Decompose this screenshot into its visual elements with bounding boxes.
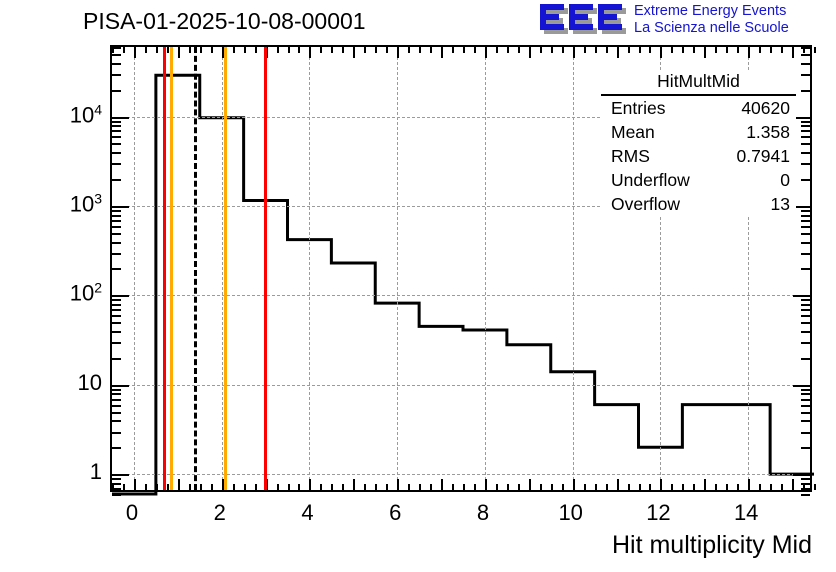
axis-tick xyxy=(364,484,366,490)
axis-tick xyxy=(573,47,575,58)
axis-tick xyxy=(386,47,388,53)
stats-box: HitMultMid Entries40620Mean1.358RMS0.794… xyxy=(601,70,796,216)
axis-tick xyxy=(628,47,630,53)
axis-tick xyxy=(649,484,651,490)
axis-tick xyxy=(397,479,399,490)
axis-tick xyxy=(178,479,180,490)
axis-tick xyxy=(606,484,608,490)
grid-line-vertical xyxy=(573,47,574,490)
grid-line-vertical xyxy=(397,47,398,490)
axis-tick xyxy=(156,47,158,53)
x-axis-title: Hit multiplicity Mid xyxy=(612,531,812,560)
marker-black-dashed-mean xyxy=(194,47,197,490)
axis-tick xyxy=(112,494,121,496)
axis-tick xyxy=(342,47,344,53)
axis-tick xyxy=(682,484,684,490)
axis-tick xyxy=(112,483,121,485)
axis-tick xyxy=(737,484,739,490)
axis-tick xyxy=(801,315,810,317)
axis-tick xyxy=(112,389,121,391)
axis-tick xyxy=(649,47,651,53)
axis-tick xyxy=(244,484,246,490)
axis-tick xyxy=(211,47,213,53)
y-tick-label: 103 xyxy=(70,190,102,217)
axis-tick xyxy=(112,63,121,65)
eee-logo-line1: Extreme Energy Events xyxy=(634,3,789,20)
axis-tick xyxy=(617,479,619,490)
axis-tick xyxy=(112,54,121,56)
axis-tick xyxy=(529,47,531,58)
axis-tick xyxy=(112,358,121,360)
marker-red-line-high xyxy=(264,47,267,490)
axis-tick xyxy=(814,484,816,490)
axis-tick xyxy=(726,484,728,490)
axis-tick xyxy=(801,412,810,414)
axis-tick xyxy=(617,47,619,58)
axis-tick xyxy=(298,47,300,53)
axis-tick xyxy=(123,484,125,490)
axis-tick xyxy=(801,488,810,490)
axis-tick xyxy=(112,136,121,138)
axis-tick xyxy=(112,143,121,145)
axis-tick xyxy=(801,393,810,395)
axis-tick xyxy=(801,358,810,360)
axis-tick xyxy=(452,47,454,53)
axis-tick xyxy=(496,47,498,53)
axis-tick xyxy=(540,484,542,490)
axis-tick xyxy=(573,479,575,490)
x-tick-label: 12 xyxy=(646,500,670,526)
axis-tick xyxy=(540,47,542,53)
axis-tick xyxy=(770,47,772,53)
axis-tick xyxy=(801,210,810,212)
stats-row: Mean1.358 xyxy=(601,120,796,144)
axis-tick xyxy=(801,121,810,123)
eee-logo-mark xyxy=(540,4,630,38)
stats-row: RMS0.7941 xyxy=(601,144,796,168)
axis-tick xyxy=(375,484,377,490)
axis-tick xyxy=(112,253,121,255)
axis-tick xyxy=(474,484,476,490)
axis-tick xyxy=(112,478,121,480)
axis-tick xyxy=(309,47,311,58)
axis-tick xyxy=(801,389,810,391)
y-tick-label: 104 xyxy=(70,101,102,128)
stats-row: Overflow13 xyxy=(601,192,796,216)
axis-tick xyxy=(801,74,810,76)
axis-tick xyxy=(112,295,129,297)
axis-tick xyxy=(441,479,443,490)
axis-tick xyxy=(463,47,465,53)
axis-tick xyxy=(112,309,121,311)
axis-tick xyxy=(518,484,520,490)
axis-tick xyxy=(801,220,810,222)
axis-tick xyxy=(801,233,810,235)
axis-tick xyxy=(485,479,487,490)
axis-tick xyxy=(419,47,421,53)
axis-tick xyxy=(112,331,121,333)
grid-line-horizontal xyxy=(112,295,810,296)
axis-tick xyxy=(801,47,810,49)
axis-tick xyxy=(693,484,695,490)
root-canvas: PISA-01-2025-10-08-00001 xyxy=(0,0,836,572)
y-tick-label: 102 xyxy=(70,280,102,307)
axis-tick xyxy=(244,47,246,53)
axis-tick xyxy=(682,47,684,53)
axis-tick xyxy=(112,432,121,434)
axis-tick xyxy=(759,47,761,53)
axis-tick xyxy=(801,478,810,480)
axis-tick xyxy=(628,484,630,490)
y-tick-label: 10 xyxy=(78,370,102,396)
axis-tick xyxy=(288,47,290,53)
axis-tick xyxy=(801,136,810,138)
stats-row-value: 40620 xyxy=(741,98,790,119)
axis-tick xyxy=(112,47,121,49)
axis-tick xyxy=(770,484,772,490)
axis-tick xyxy=(123,47,125,53)
y-tick-label: 1 xyxy=(90,459,102,485)
axis-tick xyxy=(801,494,810,496)
axis-tick xyxy=(801,405,810,407)
axis-tick xyxy=(639,484,641,490)
axis-tick xyxy=(660,47,662,58)
axis-tick xyxy=(671,484,673,490)
axis-tick xyxy=(801,299,810,301)
axis-tick xyxy=(408,484,410,490)
axis-tick xyxy=(737,47,739,53)
axis-tick xyxy=(551,484,553,490)
axis-tick xyxy=(452,484,454,490)
axis-tick xyxy=(112,315,121,317)
axis-tick xyxy=(112,152,121,154)
axis-tick xyxy=(200,484,202,490)
axis-tick xyxy=(801,152,810,154)
grid-line-vertical xyxy=(485,47,486,490)
axis-tick xyxy=(801,242,810,244)
axis-tick xyxy=(145,47,147,53)
axis-tick xyxy=(331,484,333,490)
axis-tick xyxy=(801,342,810,344)
axis-tick xyxy=(496,484,498,490)
stats-row-value: 1.358 xyxy=(746,122,790,143)
axis-tick xyxy=(112,342,121,344)
axis-tick xyxy=(801,483,810,485)
axis-tick xyxy=(112,304,121,306)
x-tick-label: 10 xyxy=(558,500,582,526)
stats-row-key: Entries xyxy=(611,98,665,119)
axis-tick xyxy=(463,484,465,490)
axis-tick xyxy=(485,47,487,58)
axis-tick xyxy=(211,484,213,490)
axis-tick xyxy=(801,215,810,217)
axis-tick xyxy=(134,479,136,490)
grid-line-vertical xyxy=(309,47,310,490)
stats-row: Underflow0 xyxy=(601,168,796,192)
axis-tick xyxy=(112,233,121,235)
stats-rows: Entries40620Mean1.358RMS0.7941Underflow0… xyxy=(601,96,796,216)
axis-tick xyxy=(112,385,129,387)
axis-tick xyxy=(112,420,121,422)
axis-tick xyxy=(353,479,355,490)
stats-box-title: HitMultMid xyxy=(601,70,796,96)
marker-orange-line-high xyxy=(224,47,227,490)
axis-tick xyxy=(320,484,322,490)
axis-tick xyxy=(660,479,662,490)
axis-tick xyxy=(189,47,191,53)
axis-tick xyxy=(801,130,810,132)
axis-tick xyxy=(112,226,121,228)
axis-tick xyxy=(112,163,121,165)
axis-tick xyxy=(801,253,810,255)
axis-tick xyxy=(233,47,235,53)
axis-tick xyxy=(801,304,810,306)
axis-tick xyxy=(430,484,432,490)
axis-tick xyxy=(801,331,810,333)
axis-tick xyxy=(255,47,257,53)
grid-line-horizontal xyxy=(112,474,810,475)
axis-tick xyxy=(529,479,531,490)
axis-tick xyxy=(112,125,121,127)
stats-row-value: 0 xyxy=(780,170,790,191)
axis-tick xyxy=(726,47,728,53)
axis-tick xyxy=(112,220,121,222)
axis-tick xyxy=(112,210,121,212)
axis-tick xyxy=(189,484,191,490)
axis-tick xyxy=(606,47,608,53)
axis-tick xyxy=(112,405,121,407)
axis-tick xyxy=(704,47,706,58)
stats-row-key: RMS xyxy=(611,146,650,167)
axis-tick xyxy=(233,484,235,490)
axis-tick xyxy=(419,484,421,490)
axis-tick xyxy=(801,226,810,228)
axis-tick xyxy=(801,163,810,165)
axis-tick xyxy=(112,117,129,119)
stats-row-key: Underflow xyxy=(611,170,690,191)
axis-tick xyxy=(584,47,586,53)
axis-tick xyxy=(693,47,695,53)
axis-tick xyxy=(255,484,257,490)
x-tick-label: 2 xyxy=(214,500,226,526)
marker-orange-line-low xyxy=(170,47,173,490)
axis-tick xyxy=(441,47,443,58)
axis-tick xyxy=(145,484,147,490)
axis-tick xyxy=(801,447,810,449)
stats-row: Entries40620 xyxy=(601,96,796,120)
axis-tick xyxy=(112,399,121,401)
axis-tick xyxy=(134,47,136,58)
axis-tick xyxy=(112,393,121,395)
axis-tick xyxy=(801,268,810,270)
axis-tick xyxy=(801,399,810,401)
axis-tick xyxy=(112,130,121,132)
axis-tick xyxy=(167,47,169,53)
eee-logo-text: Extreme Energy Events La Scienza nelle S… xyxy=(634,3,789,37)
axis-tick xyxy=(801,432,810,434)
axis-tick xyxy=(551,47,553,53)
axis-tick xyxy=(507,47,509,53)
axis-tick xyxy=(364,47,366,53)
grid-line-horizontal xyxy=(112,385,810,386)
grid-line-vertical xyxy=(134,47,135,490)
axis-tick xyxy=(375,47,377,53)
axis-tick xyxy=(112,179,121,181)
axis-tick xyxy=(781,47,783,53)
axis-tick xyxy=(320,47,322,53)
axis-tick xyxy=(584,484,586,490)
axis-tick xyxy=(112,412,121,414)
axis-tick xyxy=(801,309,810,311)
axis-tick xyxy=(801,322,810,324)
axis-tick xyxy=(801,63,810,65)
x-tick-label: 8 xyxy=(477,500,489,526)
axis-tick xyxy=(671,47,673,53)
axis-tick xyxy=(386,484,388,490)
axis-tick xyxy=(178,47,180,58)
axis-tick xyxy=(704,479,706,490)
axis-tick xyxy=(518,47,520,53)
axis-tick xyxy=(112,90,121,92)
axis-tick xyxy=(112,242,121,244)
axis-tick xyxy=(167,484,169,490)
axis-tick xyxy=(507,484,509,490)
axis-tick xyxy=(793,385,810,387)
axis-tick xyxy=(748,47,750,58)
x-tick-label: 6 xyxy=(389,500,401,526)
axis-tick xyxy=(112,447,121,449)
axis-tick xyxy=(801,54,810,56)
axis-tick xyxy=(112,322,121,324)
axis-tick xyxy=(562,47,564,53)
axis-tick xyxy=(562,484,564,490)
axis-tick xyxy=(595,484,597,490)
axis-tick xyxy=(112,121,121,123)
axis-tick xyxy=(112,268,121,270)
axis-tick xyxy=(200,47,202,53)
eee-logo-line2: La Scienza nelle Scuole xyxy=(634,20,789,37)
axis-tick xyxy=(112,74,121,76)
axis-tick xyxy=(801,125,810,127)
axis-tick xyxy=(112,299,121,301)
x-tick-label: 4 xyxy=(301,500,313,526)
axis-tick xyxy=(298,484,300,490)
marker-red-line-low xyxy=(163,47,166,490)
axis-tick xyxy=(801,179,810,181)
axis-tick xyxy=(430,47,432,53)
stats-row-value: 13 xyxy=(771,194,790,215)
axis-tick xyxy=(342,484,344,490)
stats-row-key: Overflow xyxy=(611,194,680,215)
axis-tick xyxy=(156,484,158,490)
axis-tick xyxy=(112,206,129,208)
axis-tick xyxy=(715,47,717,53)
axis-tick xyxy=(793,474,810,476)
axis-tick xyxy=(595,47,597,53)
axis-tick xyxy=(331,47,333,53)
axis-tick xyxy=(715,484,717,490)
axis-tick xyxy=(474,47,476,53)
axis-tick xyxy=(408,47,410,53)
axis-tick xyxy=(748,479,750,490)
axis-tick xyxy=(801,90,810,92)
axis-tick xyxy=(781,484,783,490)
stats-row-key: Mean xyxy=(611,122,655,143)
axis-tick xyxy=(353,47,355,58)
axis-tick xyxy=(309,479,311,490)
axis-tick xyxy=(112,215,121,217)
axis-tick xyxy=(793,295,810,297)
axis-tick xyxy=(792,47,794,58)
axis-tick xyxy=(759,484,761,490)
axis-tick xyxy=(801,420,810,422)
axis-tick xyxy=(112,474,129,476)
axis-tick xyxy=(277,47,279,53)
axis-tick xyxy=(397,47,399,58)
page-title: PISA-01-2025-10-08-00001 xyxy=(83,8,366,35)
axis-tick xyxy=(639,47,641,53)
stats-row-value: 0.7941 xyxy=(736,146,790,167)
x-tick-label: 14 xyxy=(734,500,758,526)
grid-line-vertical xyxy=(222,47,223,490)
axis-tick xyxy=(814,47,816,53)
eee-logo: Extreme Energy Events La Scienza nelle S… xyxy=(540,2,832,40)
axis-tick xyxy=(277,484,279,490)
axis-tick xyxy=(112,488,121,490)
x-tick-label: 0 xyxy=(126,500,138,526)
axis-tick xyxy=(288,484,290,490)
axis-tick xyxy=(792,479,794,490)
axis-tick xyxy=(801,143,810,145)
